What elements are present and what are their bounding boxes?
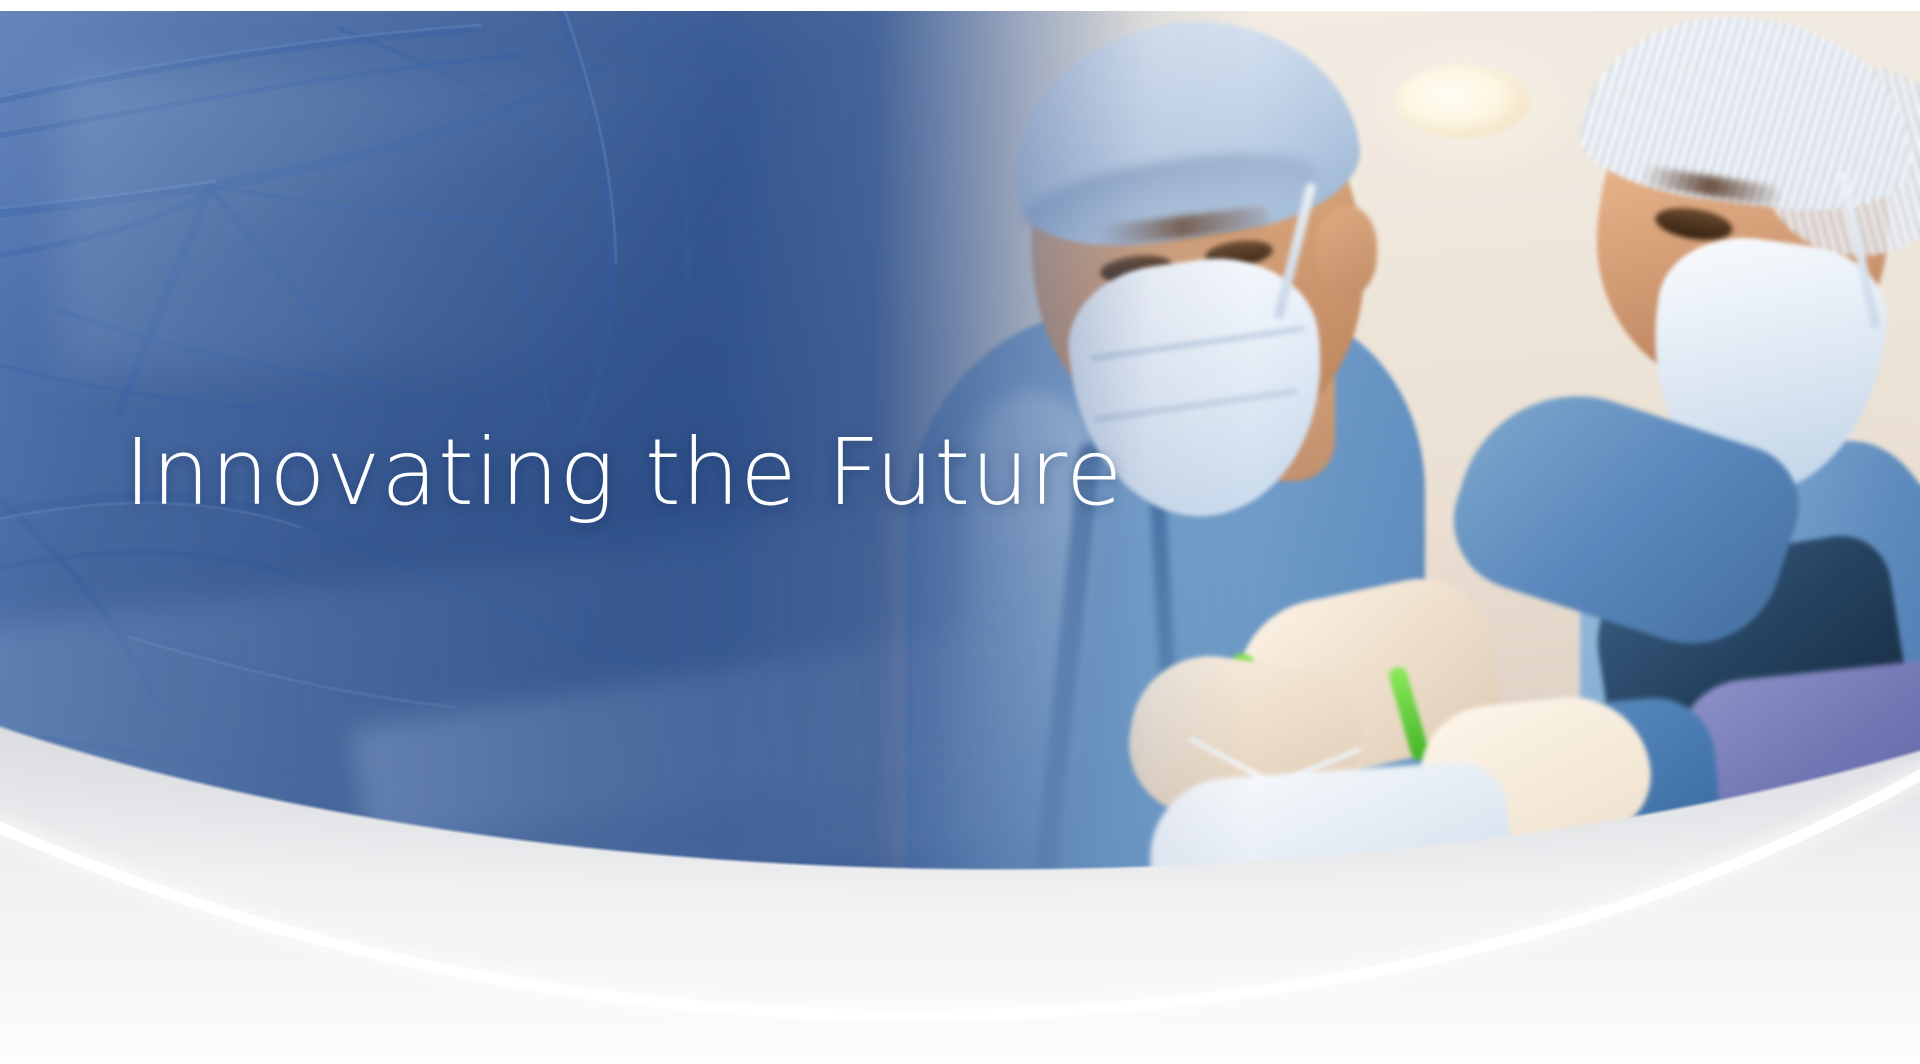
top-white-strip [0, 0, 1920, 11]
surgical-lamp-icon [1395, 66, 1530, 138]
hero-banner: Innovating the Future [0, 11, 1920, 885]
banner-page: Innovating the Future [0, 0, 1920, 1064]
banner-headline: Innovating the Future [124, 419, 1123, 526]
male-surgeon-ear [1315, 206, 1377, 296]
